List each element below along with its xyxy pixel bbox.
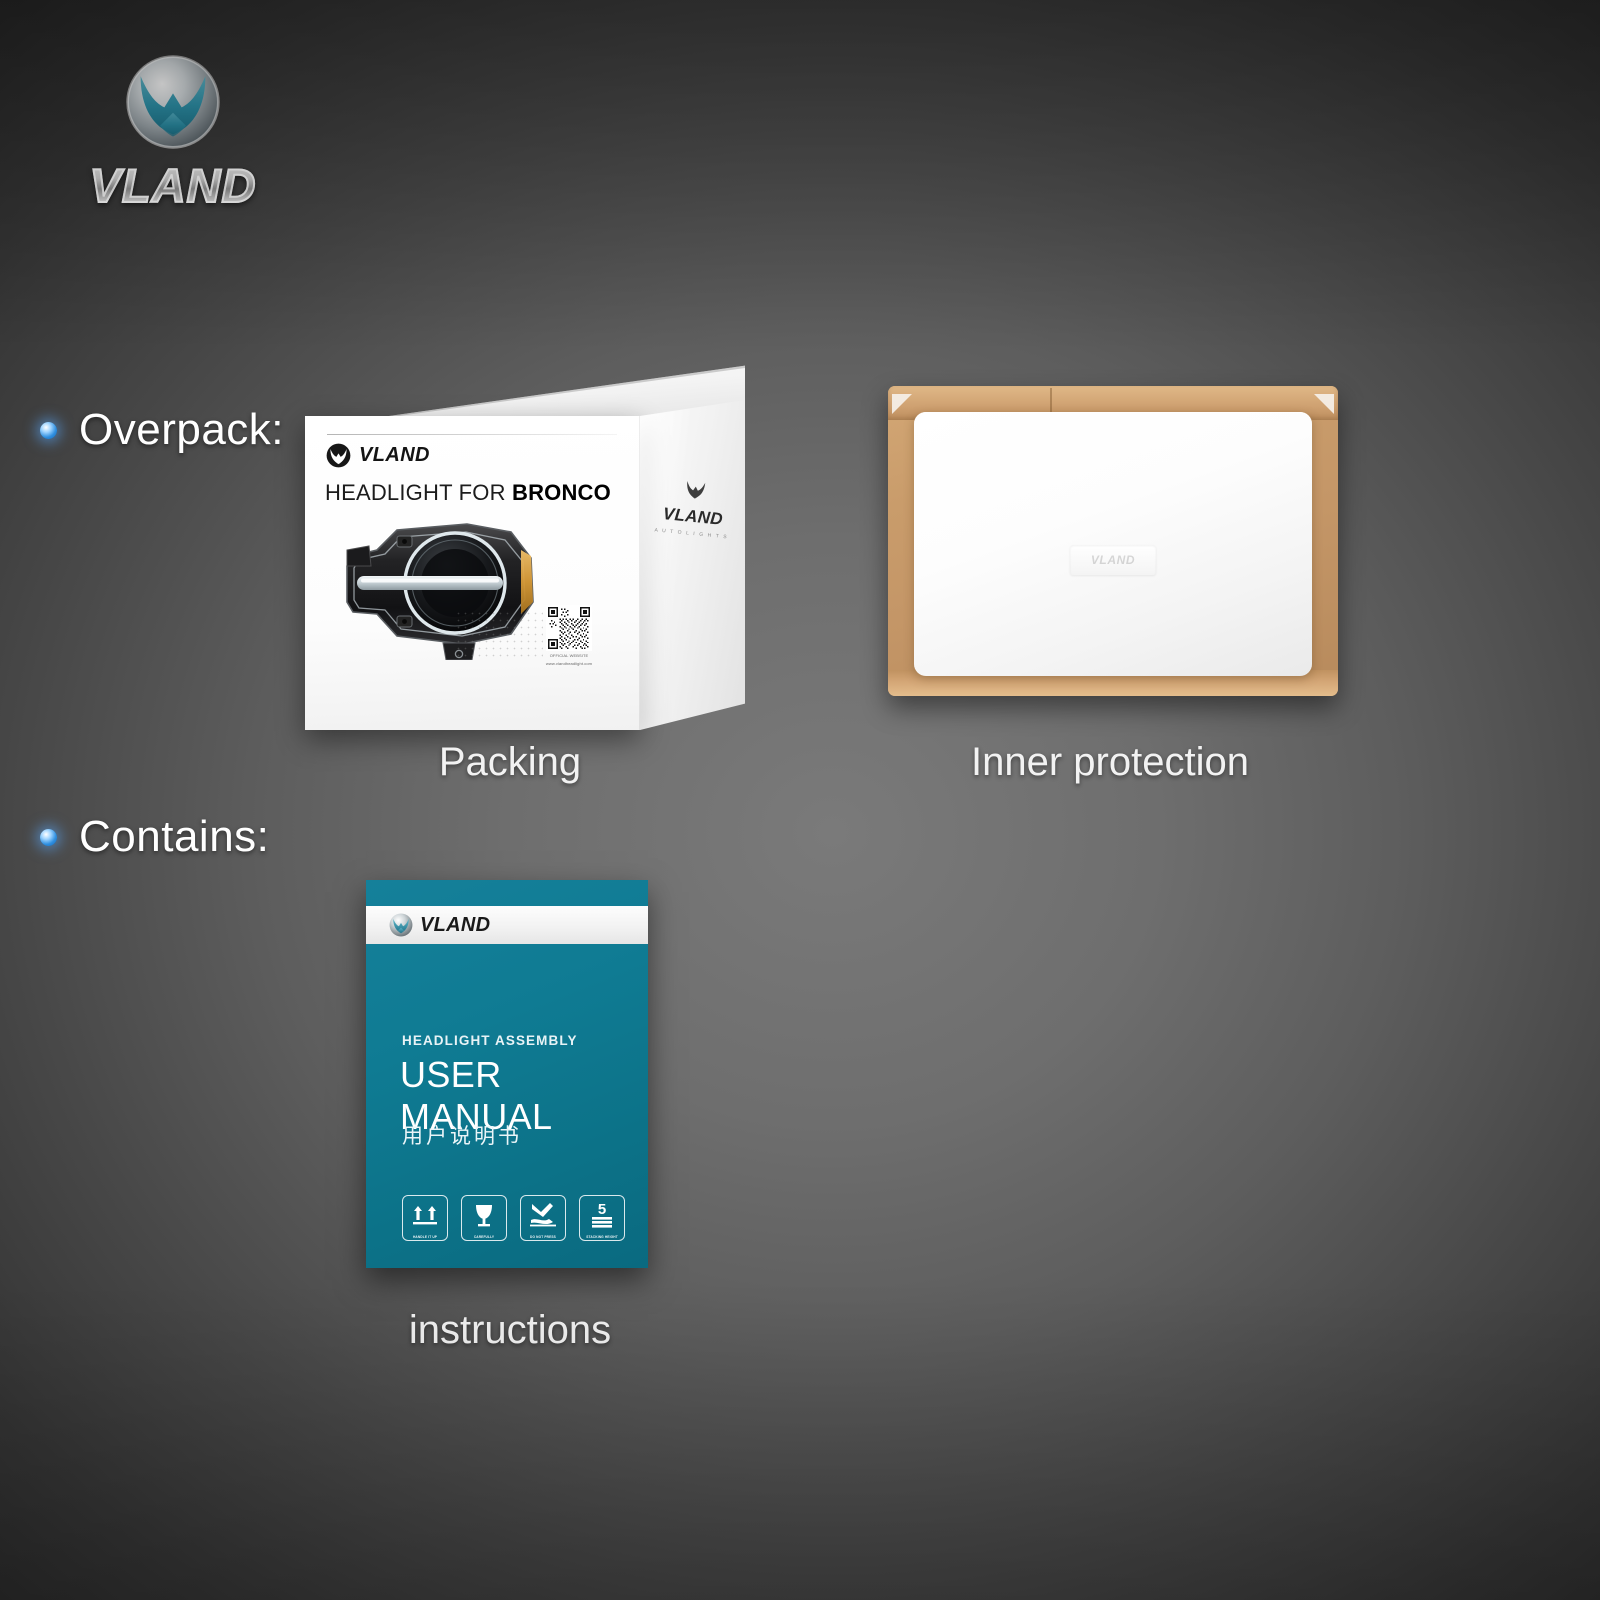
box-side-watermark: VLAND A U T O L I G H T S: [654, 471, 734, 541]
fragile-glass-label: CAREFULLY: [462, 1235, 506, 1239]
foam-insert-panel: VLAND: [914, 412, 1312, 676]
manual-brand-wordmark: VLAND: [420, 914, 490, 937]
manual-pictogram-row: HANDLE IT UP CAREFULLY DO NOT PRESS 5: [402, 1195, 625, 1241]
inner-protection-photo: VLAND: [888, 386, 1338, 696]
section-heading-overpack-label: Overpack:: [79, 405, 284, 455]
box-qr-caption: OFFICIAL WEBSITE: [541, 653, 597, 659]
vland-brand-logo: VLAND: [78, 48, 268, 213]
box-side-wordmark: VLAND: [655, 503, 731, 530]
box-qr-url: www.vlandheadlight.com: [541, 661, 597, 667]
section-heading-contains-label: Contains:: [79, 812, 269, 862]
box-brand-wordmark: VLAND: [359, 444, 430, 467]
section-heading-overpack: Overpack:: [40, 405, 284, 455]
vland-crescent-logo-icon: [388, 912, 414, 938]
section-heading-contains: Contains:: [40, 812, 269, 862]
user-manual-photo: VLAND HEADLIGHT ASSEMBLY USER MANUAL 用户说…: [366, 880, 648, 1268]
vland-crescent-logo-icon: [325, 442, 352, 469]
foam-emboss-text: VLAND: [1091, 553, 1135, 567]
svg-text:5: 5: [598, 1201, 606, 1218]
caption-instructions: instructions: [300, 1308, 720, 1353]
packing-box-photo: VLAND HEADLIGHT FOR BRONCO: [305, 362, 745, 730]
stacking-limit-icon: 5 STACKING HEIGHT: [579, 1195, 625, 1241]
foam-emboss-mark: VLAND: [1070, 545, 1156, 575]
box-header-rule: [327, 434, 617, 435]
infographic-canvas: VLAND Overpack: VLAND HEADLIGHT FOR BRON…: [0, 0, 1600, 1600]
caption-inner-protection: Inner protection: [895, 740, 1325, 785]
blue-glow-bullet-icon: [40, 829, 57, 846]
box-brand-logo: VLAND: [325, 442, 430, 469]
this-side-up-icon: HANDLE IT UP: [402, 1195, 448, 1241]
box-product-title-model: BRONCO: [512, 480, 611, 505]
fragile-glass-icon: CAREFULLY: [461, 1195, 507, 1241]
stacking-limit-label: STACKING HEIGHT: [580, 1235, 624, 1239]
box-product-title-prefix: HEADLIGHT FOR: [325, 480, 512, 505]
do-not-press-icon: DO NOT PRESS: [520, 1195, 566, 1241]
box-side-face: [640, 400, 745, 730]
manual-header-band: VLAND: [366, 906, 648, 944]
box-qr-block: OFFICIAL WEBSITE www.vlandheadlight.com: [541, 605, 597, 667]
vland-brand-wordmark: VLAND: [78, 158, 268, 213]
do-not-press-label: DO NOT PRESS: [521, 1235, 565, 1239]
qr-code-icon: [546, 605, 592, 651]
vland-crescent-logo-icon: [119, 48, 227, 156]
manual-title-chinese: 用户说明书: [402, 1120, 522, 1150]
caption-packing: Packing: [300, 740, 720, 785]
box-product-title: HEADLIGHT FOR BRONCO: [325, 480, 611, 506]
manual-subtitle: HEADLIGHT ASSEMBLY: [402, 1033, 578, 1048]
this-side-up-label: HANDLE IT UP: [403, 1235, 447, 1239]
vland-crescent-logo-icon: [679, 473, 712, 506]
box-texture-pattern: [455, 610, 543, 658]
blue-glow-bullet-icon: [40, 422, 57, 439]
